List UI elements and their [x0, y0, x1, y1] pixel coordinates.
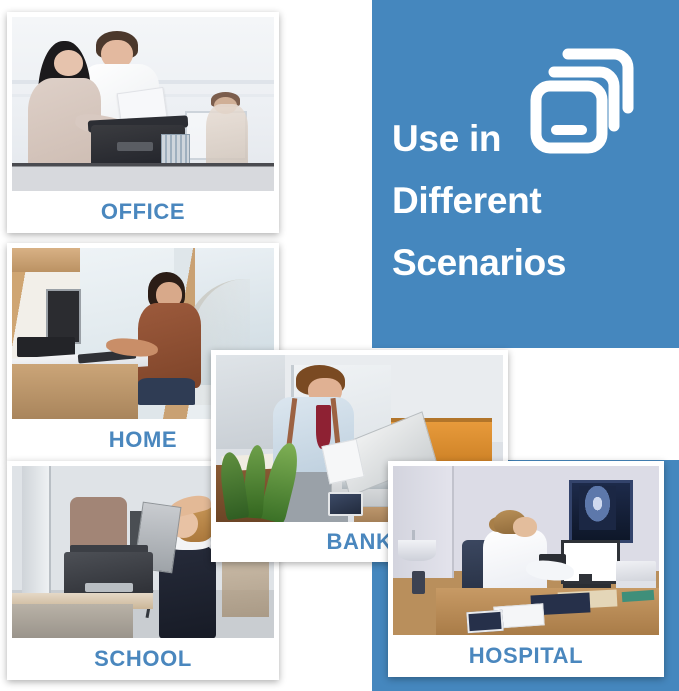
headline-line-1: Use in: [392, 108, 672, 170]
page-title: Use in Different Scenarios: [392, 108, 672, 294]
hospital-photo: [393, 466, 659, 635]
promo-infographic: Use in Different Scenarios O: [0, 0, 679, 691]
headline-line-2: Different: [392, 170, 672, 232]
office-photo: [12, 17, 274, 191]
school-caption: SCHOOL: [12, 638, 274, 680]
scenario-card-hospital: HOSPITAL: [388, 461, 664, 677]
hospital-caption: HOSPITAL: [393, 635, 659, 677]
office-caption: OFFICE: [12, 191, 274, 233]
scenario-card-office: OFFICE: [7, 12, 279, 233]
headline-line-3: Scenarios: [392, 232, 672, 294]
